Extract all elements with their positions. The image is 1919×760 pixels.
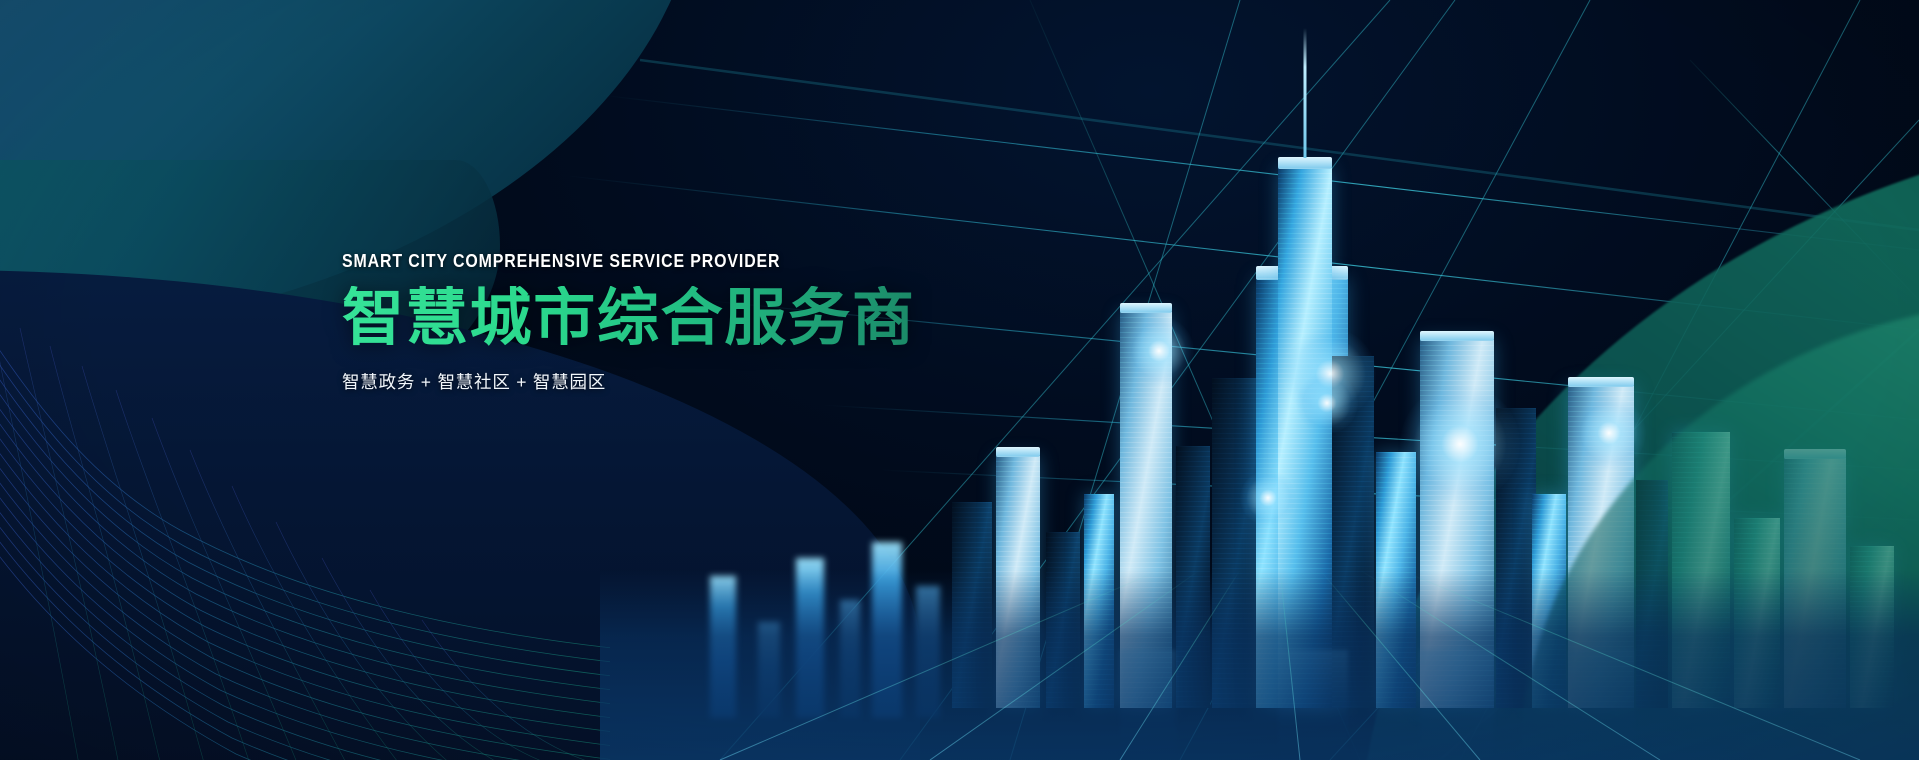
hero-subline-services: 智慧政务 + 智慧社区 + 智慧园区 xyxy=(342,369,1042,394)
perspective-grid-floor xyxy=(600,570,1919,760)
hero-headline-chinese: 智慧城市综合服务商 xyxy=(342,286,1042,353)
hero-copy-block: SMART CITY COMPREHENSIVE SERVICE PROVIDE… xyxy=(342,252,1042,394)
hero-eyebrow-english: SMART CITY COMPREHENSIVE SERVICE PROVIDE… xyxy=(342,252,944,271)
smart-city-hero-banner: SMART CITY COMPREHENSIVE SERVICE PROVIDE… xyxy=(0,0,1919,760)
